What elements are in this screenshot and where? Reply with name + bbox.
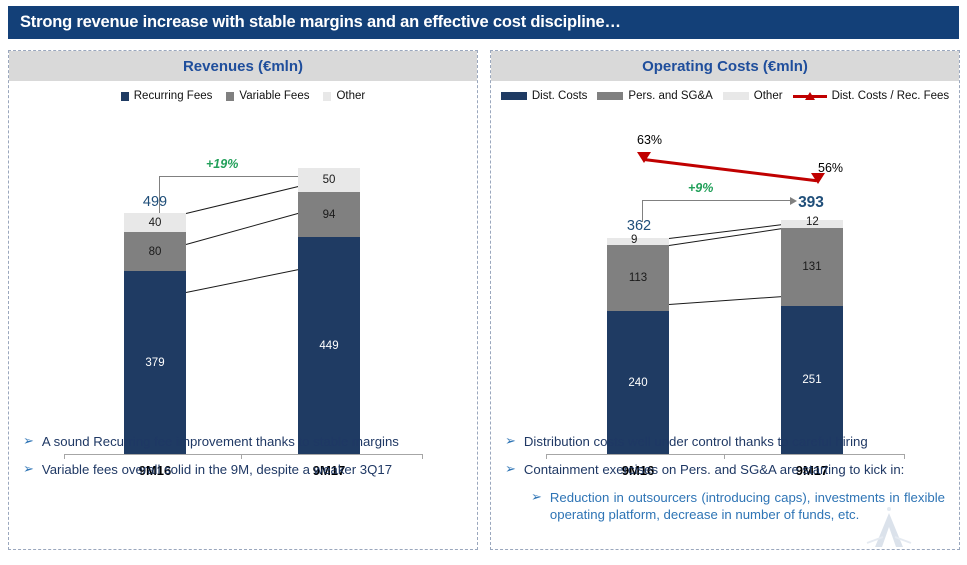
ratio-marker-icon <box>811 173 825 184</box>
legend-item-pers-sga: Pers. and SG&A <box>597 90 712 102</box>
bar-segment-other: 40 <box>124 213 186 232</box>
revenues-chart-plot: +19% 499 592 40 80 379 50 94 <box>9 108 477 438</box>
revenues-bullet-list: ➢ A sound Recurring fee improvement than… <box>9 433 477 489</box>
legend-swatch-icon <box>226 92 234 101</box>
list-item: ➢ A sound Recurring fee improvement than… <box>23 433 463 450</box>
revenues-growth-label: +19% <box>206 157 238 171</box>
bar-segment-pers-sga: 131 <box>781 228 843 306</box>
legend-label: Other <box>336 90 365 102</box>
legend-label: Dist. Costs <box>532 90 588 102</box>
operating-costs-total-9m16: 362 <box>604 218 674 234</box>
arrow-bullet-icon: ➢ <box>505 461 516 478</box>
bar-segment-recurring-fees: 449 <box>298 237 360 454</box>
arrow-bullet-icon: ➢ <box>505 433 516 450</box>
bullet-text: A sound Recurring fee improvement thanks… <box>42 433 399 450</box>
legend-label: Other <box>754 90 783 102</box>
legend-item-variable-fees: Variable Fees <box>226 90 309 102</box>
page-title: Strong revenue increase with stable marg… <box>8 13 621 32</box>
operating-costs-legend: Dist. Costs Pers. and SG&A Other Dist. C… <box>491 84 959 108</box>
revenues-legend: Recurring Fees Variable Fees Other <box>9 84 477 108</box>
segment-value: 131 <box>802 261 821 273</box>
bar-segment-dist-costs: 251 <box>781 306 843 454</box>
bar-segment-pers-sga: 113 <box>607 245 669 311</box>
bullet-text: Distribution costs well under control th… <box>524 433 868 450</box>
operating-costs-bar-9m16[interactable]: 113 240 <box>607 238 669 454</box>
revenues-panel: Revenues (€mln) Recurring Fees Variable … <box>8 50 478 550</box>
arrow-bullet-icon: ➢ <box>531 489 542 523</box>
bullet-text: Containment exercises on Pers. and SG&A … <box>524 461 904 478</box>
operating-costs-growth-label: +9% <box>688 181 713 195</box>
legend-swatch-icon <box>323 92 331 101</box>
legend-swatch-icon <box>597 92 623 100</box>
segment-value: 50 <box>323 174 336 186</box>
segment-value: 379 <box>145 357 164 369</box>
segment-value: 449 <box>319 340 338 352</box>
bar-segment-variable-fees: 80 <box>124 232 186 271</box>
segment-value: 113 <box>629 272 647 284</box>
segment-value: 240 <box>628 377 647 389</box>
bullet-text: Variable fees overall solid in the 9M, d… <box>42 461 392 478</box>
segment-connector <box>186 184 306 214</box>
legend-label: Dist. Costs / Rec. Fees <box>832 90 950 102</box>
ratio-marker-icon <box>637 152 651 163</box>
bar-segment-variable-fees: 94 <box>298 192 360 237</box>
ratio-trend-line <box>644 158 817 182</box>
segment-value: 94 <box>323 209 336 221</box>
slide-title-bar: Strong revenue increase with stable marg… <box>8 6 959 39</box>
legend-label: Variable Fees <box>239 90 309 102</box>
legend-label: Recurring Fees <box>134 90 213 102</box>
legend-swatch-icon <box>121 92 129 101</box>
ratio-label-9m16: 63% <box>637 133 662 147</box>
list-item: ➢ Distribution costs well under control … <box>505 433 945 450</box>
revenues-panel-header: Revenues (€mln) <box>9 51 477 81</box>
revenues-bar-9m16[interactable]: 40 80 379 <box>124 213 186 454</box>
arrow-bullet-icon: ➢ <box>23 433 34 450</box>
company-logo-watermark-icon <box>859 507 919 553</box>
legend-item-dist-costs-rec-fees: Dist. Costs / Rec. Fees <box>793 90 950 102</box>
legend-item-other: Other <box>323 90 365 102</box>
segment-value: 80 <box>149 246 162 258</box>
list-item: ➢ Variable fees overall solid in the 9M,… <box>23 461 463 478</box>
segment-connector <box>186 267 308 293</box>
legend-item-recurring-fees: Recurring Fees <box>121 90 213 102</box>
legend-label: Pers. and SG&A <box>628 90 712 102</box>
revenues-total-9m16: 499 <box>120 194 190 210</box>
bar-segment-other: 50 <box>298 168 360 192</box>
segment-value: 251 <box>802 374 821 386</box>
revenues-bar-9m17[interactable]: 50 94 449 <box>298 168 360 454</box>
legend-swatch-icon <box>723 92 749 100</box>
bar-segment-other <box>607 238 669 245</box>
legend-item-dist-costs: Dist. Costs <box>501 90 588 102</box>
segment-value: 40 <box>149 217 162 229</box>
list-item: ➢ Containment exercises on Pers. and SG&… <box>505 461 945 478</box>
segment-value-other-9m17: 12 <box>806 216 819 228</box>
operating-costs-chart-plot: 63% 56% +9% 362 393 113 240 9 <box>491 108 959 438</box>
legend-item-other: Other <box>723 90 783 102</box>
operating-costs-total-9m17: 393 <box>776 194 846 212</box>
operating-costs-panel: Operating Costs (€mln) Dist. Costs Pers.… <box>490 50 960 550</box>
operating-costs-panel-header: Operating Costs (€mln) <box>491 51 959 81</box>
segment-connector <box>669 295 793 305</box>
revenues-title: Revenues (€mln) <box>183 58 303 75</box>
legend-swatch-icon <box>501 92 527 100</box>
legend-line-marker-icon <box>793 91 827 101</box>
segment-connector <box>186 211 306 245</box>
segment-value-other-9m16: 9 <box>631 234 637 246</box>
arrow-bullet-icon: ➢ <box>23 461 34 478</box>
operating-costs-bar-9m17[interactable]: 131 251 <box>781 220 843 454</box>
operating-costs-title: Operating Costs (€mln) <box>642 58 808 75</box>
bar-segment-recurring-fees: 379 <box>124 271 186 454</box>
